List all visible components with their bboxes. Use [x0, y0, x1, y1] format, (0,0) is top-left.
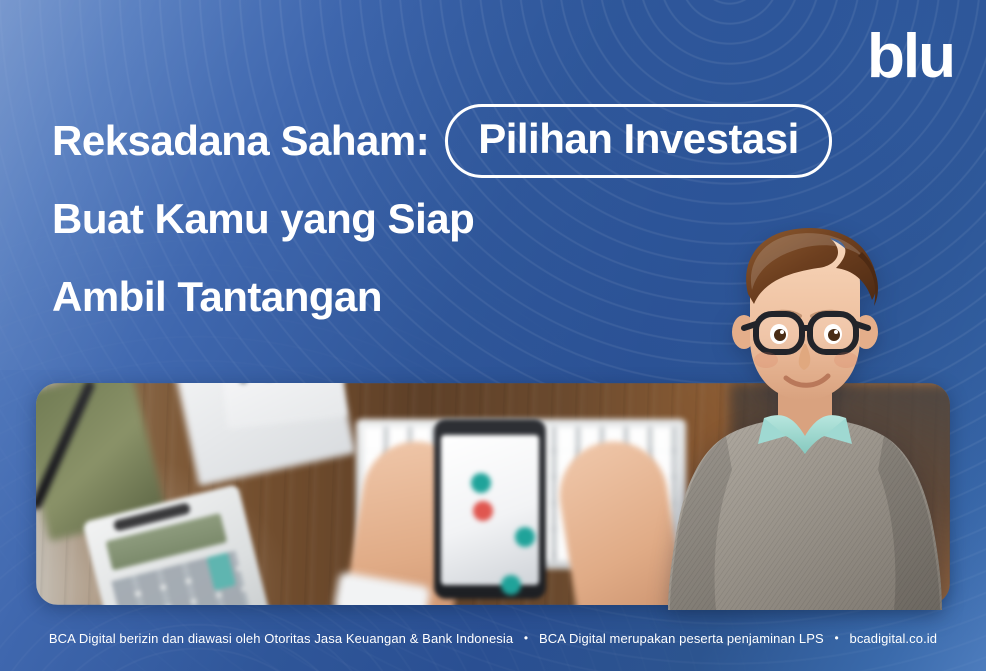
headline-prefix: Reksadana Saham:: [52, 117, 429, 165]
headline-line-1: Reksadana Saham: Pilihan Investasi: [52, 110, 912, 172]
screen-dot-teal-1: [471, 473, 491, 493]
mascot-right-eye-glint: [834, 330, 838, 334]
promo-banner: blu Reksadana Saham: Pilihan Investasi B…: [0, 0, 986, 671]
footer-disclaimer: BCA Digital berizin dan diawasi oleh Oto…: [49, 631, 937, 646]
mascot-right-cheek: [834, 352, 858, 368]
screen-dot-teal-2: [515, 527, 535, 547]
mascot-right-pupil: [828, 329, 840, 341]
photo-smartphone: [434, 419, 546, 599]
footer-website-link[interactable]: bcadigital.co.id: [850, 631, 938, 646]
footer-part-1: BCA Digital berizin dan diawasi oleh Oto…: [49, 631, 513, 646]
mascot-left-pupil: [774, 329, 786, 341]
footer-separator-2: •: [827, 631, 845, 645]
headline-block: Reksadana Saham: Pilihan Investasi Buat …: [52, 110, 912, 328]
headline-pill-badge: Pilihan Investasi: [445, 104, 832, 178]
screen-dot-red: [473, 501, 493, 521]
footer-bar: BCA Digital berizin dan diawasi oleh Oto…: [0, 605, 986, 671]
mascot-left-eye-glint: [780, 330, 784, 334]
headline-line-2: Buat Kamu yang Siap: [52, 188, 912, 250]
mascot-left-cheek: [754, 352, 778, 368]
smartphone-screen: [441, 435, 539, 585]
screen-dot-teal-3: [501, 575, 521, 595]
footer-part-2: BCA Digital merupakan peserta penjaminan…: [539, 631, 824, 646]
footer-separator-1: •: [517, 631, 535, 645]
headline-line-3: Ambil Tantangan: [52, 266, 912, 328]
blu-logo[interactable]: blu: [867, 26, 954, 88]
